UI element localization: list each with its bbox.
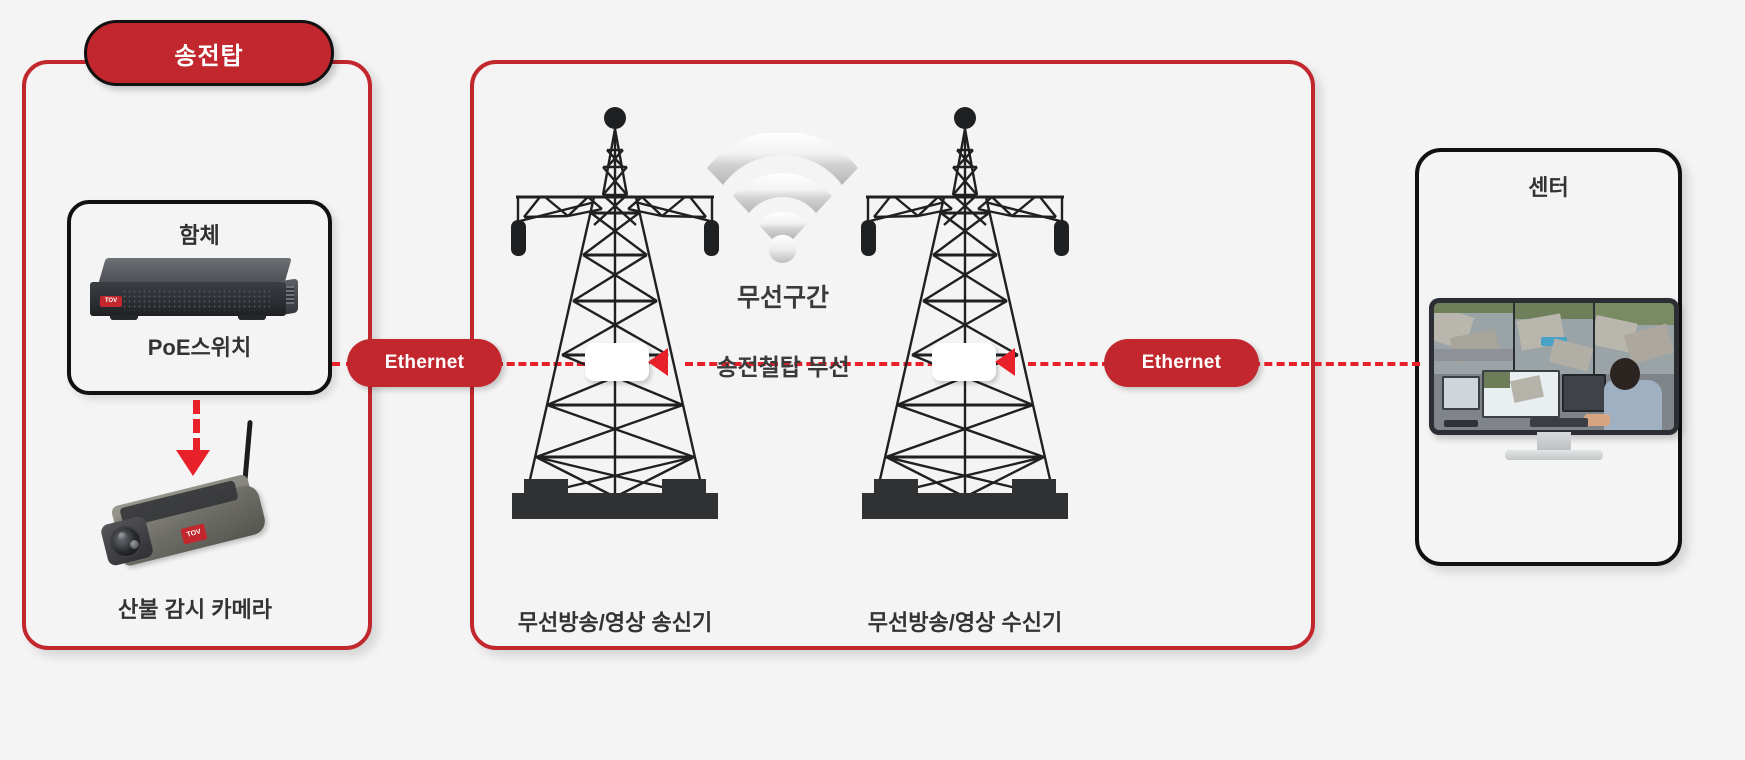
poe-switch-foot-right xyxy=(238,315,266,320)
wildfire-camera-image: TOV xyxy=(98,460,288,580)
transmission-tower-receiver xyxy=(840,105,1090,525)
badge-transmission-tower: 송전탑 xyxy=(84,20,334,86)
ethernet-badge-right: Ethernet xyxy=(1104,339,1259,387)
ethernet-dash-right-b xyxy=(1252,362,1420,366)
wireless-arrow-right-icon xyxy=(995,348,1015,376)
camera-label: 산불 감시 카메라 xyxy=(40,592,350,624)
cctv-cell xyxy=(1515,303,1596,374)
wifi-icon xyxy=(700,133,865,263)
poe-switch-mesh xyxy=(122,289,270,311)
poe-switch-brand-logo: TOV xyxy=(100,296,122,307)
monitor-screen xyxy=(1434,303,1674,430)
enclosure-title: 함체 xyxy=(71,218,328,250)
wireless-arrow-left-icon xyxy=(648,348,668,376)
poe-switch-label: PoE스위치 xyxy=(67,330,332,362)
receiver-caption: 무선방송/영상 수신기 xyxy=(840,605,1090,637)
wireless-zone-label: 무선구간 xyxy=(703,278,863,314)
transmitter-caption: 무선방송/영상 송신기 xyxy=(490,605,740,637)
poe-switch-foot-left xyxy=(110,315,138,320)
wireless-link-label: 송전철탑 무선 xyxy=(688,348,878,382)
monitor-base xyxy=(1505,450,1603,460)
poe-switch-top xyxy=(98,258,291,284)
operator-desk-area xyxy=(1434,374,1674,430)
poe-switch-image: TOV xyxy=(88,258,300,320)
radio-unit-receiver xyxy=(932,343,996,381)
enclosure-to-camera-connector xyxy=(193,400,200,452)
ethernet-right-border-stub xyxy=(1311,322,1315,402)
cctv-grid xyxy=(1434,303,1674,374)
camera-ir-led-1 xyxy=(118,532,127,541)
center-title: 센터 xyxy=(1415,170,1682,202)
cctv-cell xyxy=(1434,303,1515,374)
radio-unit-transmitter xyxy=(585,343,649,381)
camera-ir-led-2 xyxy=(130,540,139,549)
network-diagram: 송전탑 함체 TOV PoE스위치 TOV 산불 감시 카메라 센터 xyxy=(0,0,1745,760)
monitor-bezel xyxy=(1429,298,1679,435)
control-room-monitor-image xyxy=(1429,298,1679,463)
ethernet-badge-left: Ethernet xyxy=(347,339,502,387)
